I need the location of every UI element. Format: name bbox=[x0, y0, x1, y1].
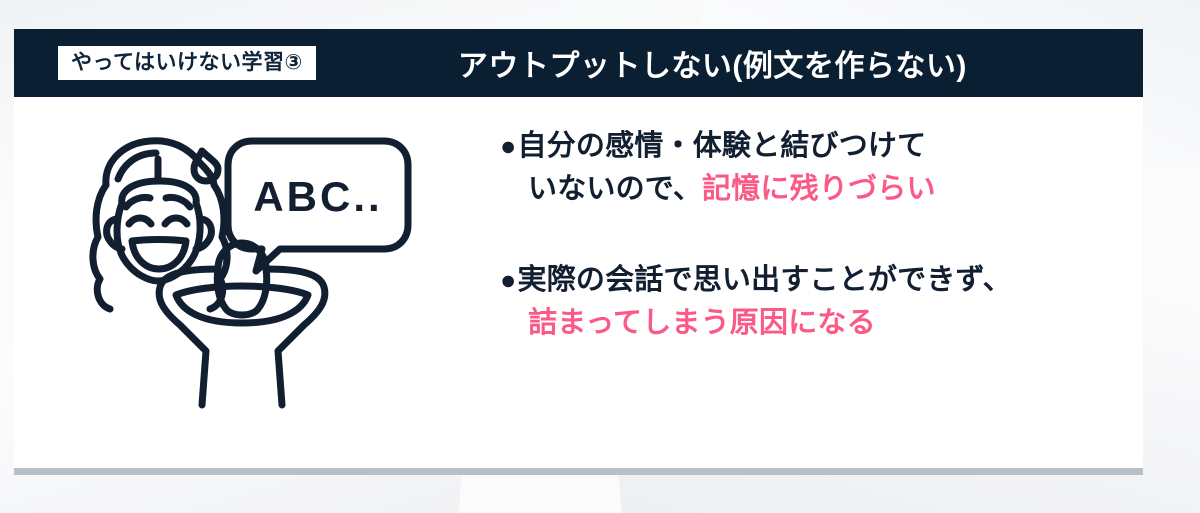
bullet-list: ●自分の感情・体験と結びつけて いないので、記憶に残りづらい ●実際の会話で思い… bbox=[500, 125, 1100, 345]
slide-body: ABC.. ●自分の感情・体験と結びつけて いないので、記憶に残りづらい ●実際… bbox=[14, 97, 1143, 468]
bullet-text-highlight: 記憶に残りづらい bbox=[702, 173, 936, 205]
bullet-line: ●自分の感情・体験と結びつけて bbox=[500, 125, 1100, 168]
bullet-text: いないので、 bbox=[528, 173, 702, 205]
illustration-person-holding-head: ABC.. bbox=[66, 119, 416, 419]
bullet-text: 自分の感情・体験と結びつけて bbox=[518, 130, 927, 162]
bullet-item-2: ●実際の会話で思い出すことができず、 詰まってしまう原因になる bbox=[500, 259, 1100, 345]
bullet-item-1: ●自分の感情・体験と結びつけて いないので、記憶に残りづらい bbox=[500, 125, 1100, 211]
slide-card: やってはいけない学習③ アウトプットしない(例文を作らない) bbox=[14, 29, 1143, 468]
bullet-line: ●実際の会話で思い出すことができず、 bbox=[500, 259, 1100, 302]
bullet-marker-icon: ● bbox=[500, 131, 517, 161]
bullet-marker-icon: ● bbox=[500, 265, 517, 295]
bullet-text-highlight: 詰まってしまう原因になる bbox=[528, 307, 876, 339]
header-badge: やってはいけない学習③ bbox=[58, 46, 316, 80]
bullet-line: いないので、記憶に残りづらい bbox=[500, 168, 1100, 211]
slide-stage: やってはいけない学習③ アウトプットしない(例文を作らない) bbox=[0, 0, 1200, 513]
page-title: アウトプットしない(例文を作らない) bbox=[332, 41, 1093, 85]
bullet-text: 実際の会話で思い出すことができず、 bbox=[518, 264, 1012, 296]
speech-bubble-text: ABC.. bbox=[253, 173, 382, 220]
slide-header-bar: やってはいけない学習③ アウトプットしない(例文を作らない) bbox=[14, 29, 1143, 97]
bullet-line: 詰まってしまう原因になる bbox=[500, 302, 1100, 345]
